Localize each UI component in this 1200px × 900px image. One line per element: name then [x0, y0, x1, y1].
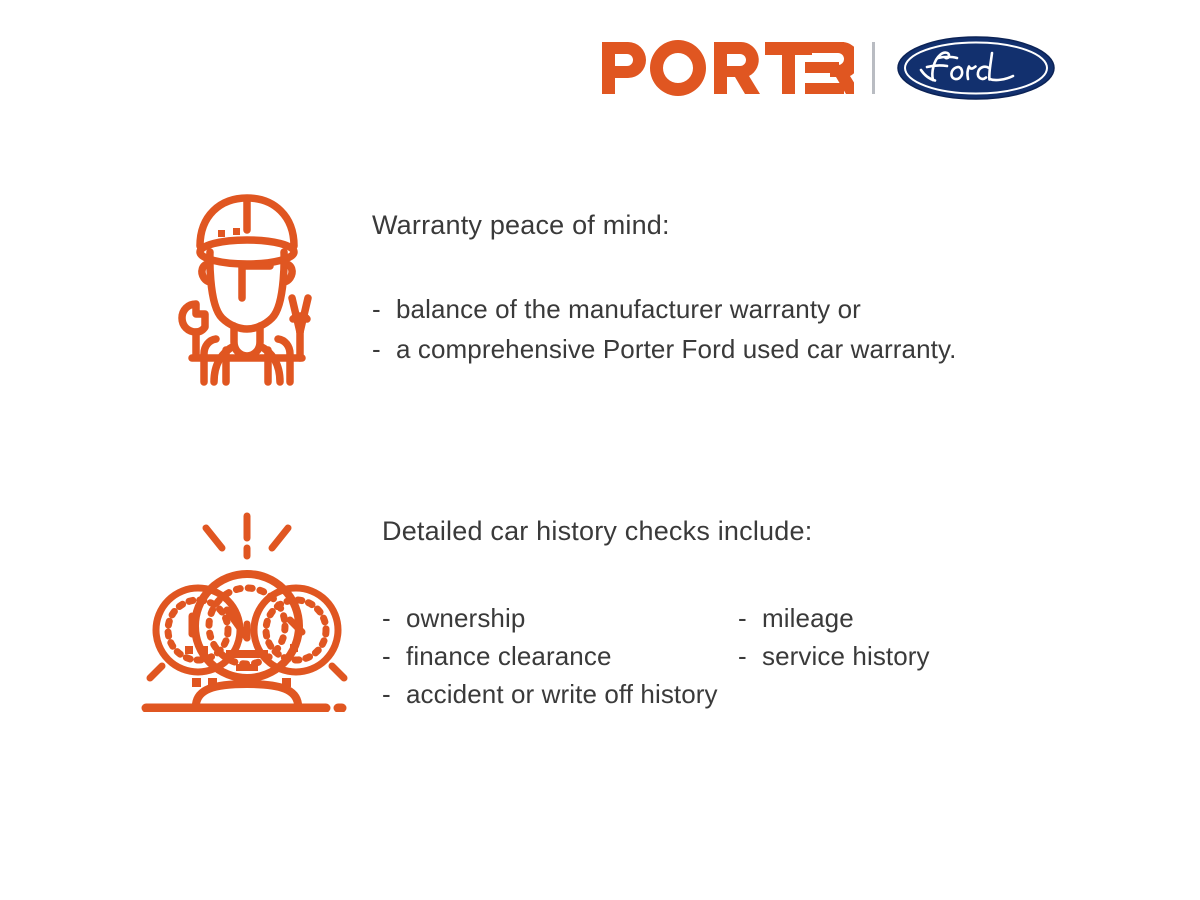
brand-header: [0, 28, 1200, 108]
list-item-label: ownership: [406, 599, 525, 637]
list-item-label: a comprehensive Porter Ford used car war…: [396, 329, 956, 369]
bullet-marker: -: [372, 289, 396, 329]
feature-block-warranty: Warranty peace of mind: - balance of the…: [152, 186, 956, 386]
bullet-marker: -: [738, 599, 762, 637]
list-item: - ownership: [382, 599, 738, 637]
list-item: - service history: [738, 637, 930, 675]
list-item: - accident or write off history: [382, 675, 930, 713]
feature-block-history: Detailed car history checks include: - o…: [140, 508, 930, 713]
ford-oval-logo-icon: [897, 36, 1055, 100]
list-item: - a comprehensive Porter Ford used car w…: [372, 329, 956, 369]
feature-body-history: Detailed car history checks include: - o…: [382, 508, 930, 713]
vertical-divider-icon: [872, 42, 875, 94]
history-checks-list: - ownership - mileage - finance clearanc…: [382, 599, 930, 713]
bullet-marker: -: [372, 329, 396, 369]
warranty-bullet-list: - balance of the manufacturer warranty o…: [372, 289, 956, 369]
feature-body-warranty: Warranty peace of mind: - balance of the…: [372, 186, 956, 369]
bullet-marker: -: [382, 675, 406, 713]
mechanic-with-hardhat-icon: [152, 186, 342, 386]
list-item-label: accident or write off history: [406, 675, 718, 713]
brand-lockup: [602, 36, 1055, 100]
list-item-label: finance clearance: [406, 637, 612, 675]
bullet-marker: -: [382, 637, 406, 675]
list-item-label: balance of the manufacturer warranty or: [396, 289, 861, 329]
list-item: - balance of the manufacturer warranty o…: [372, 289, 956, 329]
porter-wordmark: [602, 40, 854, 96]
feature-heading-history: Detailed car history checks include:: [382, 516, 930, 547]
list-item-label: service history: [762, 637, 930, 675]
list-item: - mileage: [738, 599, 930, 637]
bullet-marker: -: [382, 599, 406, 637]
feature-heading-warranty: Warranty peace of mind:: [372, 210, 956, 241]
list-item-label: mileage: [762, 599, 854, 637]
dashboard-gauges-icon: [140, 508, 354, 712]
bullet-marker: -: [738, 637, 762, 675]
list-item: - finance clearance: [382, 637, 738, 675]
